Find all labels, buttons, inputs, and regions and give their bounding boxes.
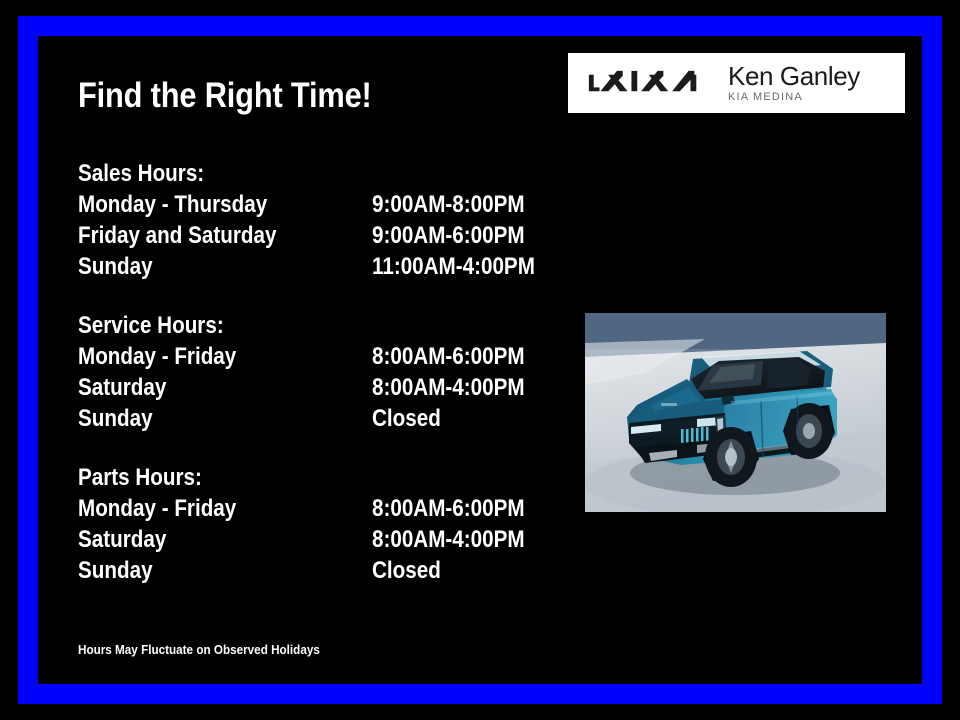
dealer-logo-lockup: Ken Ganley KIA MEDINA bbox=[568, 53, 905, 113]
hours-row-day: Saturday bbox=[78, 372, 166, 403]
hours-section-heading: Service Hours: bbox=[78, 310, 482, 341]
hours-row-time: 9:00AM-6:00PM bbox=[372, 220, 525, 251]
dealer-name-block: Ken Ganley KIA MEDINA bbox=[728, 63, 860, 104]
kia-logo-icon bbox=[586, 68, 704, 98]
hours-row-day: Sunday bbox=[78, 555, 153, 586]
hours-row: SundayClosed bbox=[78, 403, 548, 434]
hours-row-day: Sunday bbox=[78, 403, 153, 434]
hours-row: Monday - Friday8:00AM-6:00PM bbox=[78, 341, 548, 372]
slide-canvas: Find the Right Time! Sales Hours:Monday … bbox=[0, 0, 960, 720]
hours-row-time: 8:00AM-4:00PM bbox=[372, 372, 525, 403]
hours-row-time: 9:00AM-8:00PM bbox=[372, 189, 525, 220]
hours-row-time: Closed bbox=[372, 555, 441, 586]
dealer-name: Ken Ganley bbox=[728, 63, 860, 90]
hours-row-time: 8:00AM-6:00PM bbox=[372, 493, 525, 524]
hours-row: Saturday8:00AM-4:00PM bbox=[78, 524, 548, 555]
hours-row-time: Closed bbox=[372, 403, 441, 434]
holiday-disclaimer: Hours May Fluctuate on Observed Holidays bbox=[78, 642, 320, 658]
slide-content-panel: Find the Right Time! Sales Hours:Monday … bbox=[38, 36, 922, 684]
hours-section-heading: Sales Hours: bbox=[78, 158, 482, 189]
hours-row-day: Sunday bbox=[78, 251, 153, 282]
hours-row: Friday and Saturday9:00AM-6:00PM bbox=[78, 220, 548, 251]
hours-row: Sunday11:00AM-4:00PM bbox=[78, 251, 548, 282]
hours-row-time: 11:00AM-4:00PM bbox=[372, 251, 535, 282]
hours-section: Parts Hours:Monday - Friday8:00AM-6:00PM… bbox=[78, 462, 548, 586]
hours-row-day: Monday - Thursday bbox=[78, 189, 267, 220]
hours-section-heading: Parts Hours: bbox=[78, 462, 482, 493]
hours-row-day: Monday - Friday bbox=[78, 493, 236, 524]
hours-row-day: Friday and Saturday bbox=[78, 220, 276, 251]
hours-section: Sales Hours:Monday - Thursday9:00AM-8:00… bbox=[78, 158, 548, 282]
hours-row: Saturday8:00AM-4:00PM bbox=[78, 372, 548, 403]
hours-row: Monday - Friday8:00AM-6:00PM bbox=[78, 493, 548, 524]
hours-row-time: 8:00AM-4:00PM bbox=[372, 524, 525, 555]
hours-section: Service Hours:Monday - Friday8:00AM-6:00… bbox=[78, 310, 548, 434]
dealer-subtitle: KIA MEDINA bbox=[728, 90, 860, 104]
hours-row: Monday - Thursday9:00AM-8:00PM bbox=[78, 189, 548, 220]
hours-row-time: 8:00AM-6:00PM bbox=[372, 341, 525, 372]
hours-row-day: Monday - Friday bbox=[78, 341, 236, 372]
hours-row: SundayClosed bbox=[78, 555, 548, 586]
page-title: Find the Right Time! bbox=[78, 78, 372, 113]
hours-list: Sales Hours:Monday - Thursday9:00AM-8:00… bbox=[78, 158, 548, 586]
kia-ev9-suv-photo bbox=[585, 313, 886, 512]
hours-row-day: Saturday bbox=[78, 524, 166, 555]
